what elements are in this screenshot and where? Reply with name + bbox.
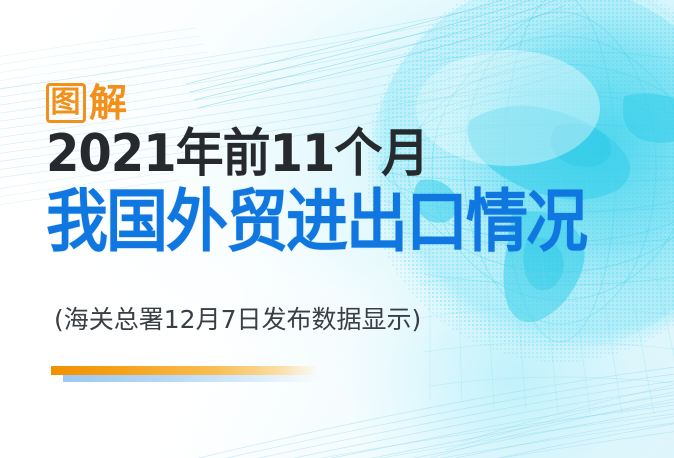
headline-primary: 2021年前11个月 <box>46 128 428 180</box>
infographic-poster: 图解 2021年前11个月 我国外贸进出口情况 (海关总署12月7日发布数据显示… <box>0 0 674 458</box>
divider-bar-blue <box>63 375 319 382</box>
divider-bar-orange <box>51 366 319 375</box>
divider-rule <box>51 366 319 379</box>
subtitle-source: (海关总署12月7日发布数据显示) <box>54 307 421 332</box>
infographic-badge: 图解 <box>46 80 128 126</box>
badge-char-plain: 解 <box>89 84 128 122</box>
badge-char-boxed: 图 <box>46 83 86 123</box>
headline-secondary: 我国外贸进出口情况 <box>46 188 586 256</box>
poster-content: 图解 2021年前11个月 我国外贸进出口情况 (海关总署12月7日发布数据显示… <box>46 0 646 458</box>
